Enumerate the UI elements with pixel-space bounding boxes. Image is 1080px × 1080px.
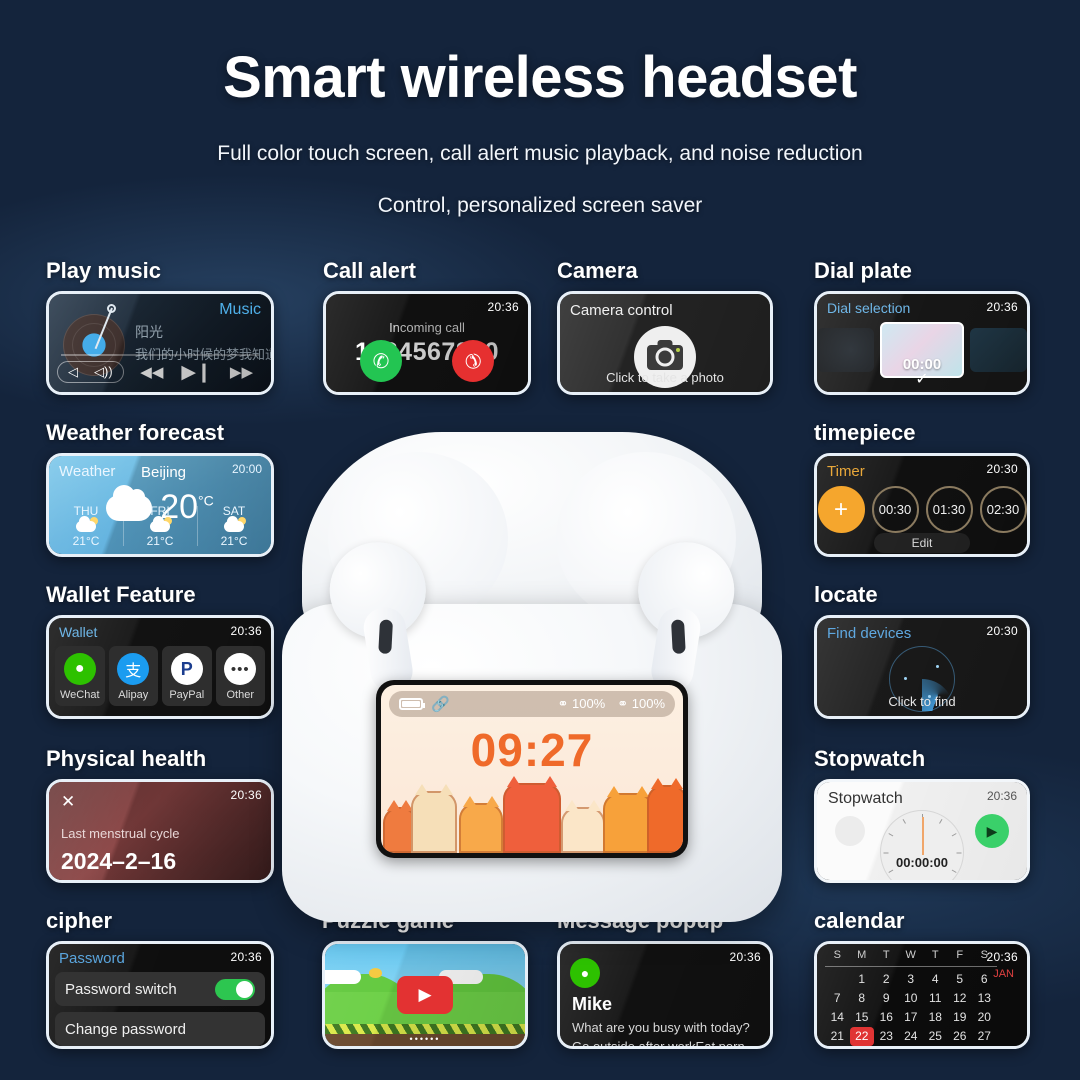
timer-presets: + 00:30 01:30 02:30 (817, 486, 1027, 533)
start-stopwatch-button[interactable]: ▶ (975, 814, 1009, 848)
find-hint: Click to find (817, 694, 1027, 709)
volume-control[interactable]: ◁ ◁)) (57, 361, 124, 383)
calendar-day[interactable]: 28 (825, 1046, 850, 1049)
feature-title: cipher (46, 908, 274, 934)
message-line-2: Go outside after workEat porn (572, 1039, 745, 1049)
calendar-day[interactable]: 31 (899, 1046, 924, 1049)
cipher-screen[interactable]: Password 20:36 Password switch Change pa… (46, 941, 274, 1049)
subtitle-line-1: Full color touch screen, call alert musi… (0, 142, 1080, 166)
calendar-day[interactable]: 23 (874, 1027, 899, 1046)
feature-title: Play music (46, 258, 274, 284)
cycle-label: Last menstrual cycle (61, 826, 180, 841)
wechat-icon: ● (64, 653, 96, 685)
calendar-day[interactable]: 1 (850, 970, 875, 989)
calendar-day[interactable]: 9 (874, 989, 899, 1008)
cloud-sun-icon (224, 521, 244, 532)
calendar-day[interactable]: 11 (923, 989, 948, 1008)
earbud-mesh (671, 619, 686, 654)
subtitle-line-2: Control, personalized screen saver (0, 194, 1080, 218)
feature-call-alert: Call alert 20:36 Incoming call 123456789… (323, 258, 531, 395)
dial-tick (884, 853, 889, 854)
dial-tick (957, 853, 962, 854)
feature-title: Physical health (46, 746, 274, 772)
wallet-screen[interactable]: Wallet 20:36 ● WeChat 支 Alipay P PayPal … (46, 615, 274, 719)
add-timer-button[interactable]: + (818, 486, 865, 533)
calendar-day[interactable]: 4 (923, 970, 948, 989)
status-clock: 20:36 (729, 950, 761, 964)
calendar-day[interactable]: 19 (948, 1008, 973, 1027)
case-display-inner: 🔗 ⚭ 100% ⚭ 100% 09:27 (381, 685, 683, 853)
earbud-battery-group: ⚭ 100% ⚭ 100% (557, 696, 665, 712)
tonearm-pivot-icon (107, 304, 116, 313)
calendar-day[interactable]: 25 (923, 1027, 948, 1046)
wallet-app-other[interactable]: ••• Other (216, 646, 266, 706)
case-display[interactable]: 🔗 ⚭ 100% ⚭ 100% 09:27 (376, 680, 688, 858)
status-clock: 20:30 (986, 462, 1018, 476)
battery-icon (399, 698, 423, 710)
forecast-day: THU 21°C (49, 504, 123, 548)
timer-app-label: Timer (827, 463, 865, 480)
calendar-day[interactable]: 27 (972, 1027, 997, 1046)
calendar-weekday: S (972, 949, 997, 961)
wallet-app-paypal[interactable]: P PayPal (162, 646, 212, 706)
incoming-call-label: Incoming call (326, 320, 528, 335)
feature-dial-plate: Dial plate Dial selection 20:36 00:00 ✓ (814, 258, 1030, 395)
calendar-day[interactable]: 22 (850, 1027, 875, 1046)
wallet-app-alipay[interactable]: 支 Alipay (109, 646, 159, 706)
calendar-divider (825, 966, 997, 967)
radar-dot (904, 677, 907, 680)
feature-title: Wallet Feature (46, 582, 274, 608)
paypal-icon: P (171, 653, 203, 685)
right-earbud-battery: ⚭ 100% (617, 696, 665, 712)
calendar-day[interactable]: 24 (899, 1027, 924, 1046)
wallet-app-label: WeChat (55, 689, 105, 701)
volume-up-icon[interactable]: ◁)) (94, 364, 113, 380)
password-app-label: Password (59, 950, 125, 967)
forecast-day: SAT 21°C (197, 504, 271, 548)
feature-wallet: Wallet Feature Wallet 20:36 ● WeChat 支 A… (46, 582, 274, 719)
dial-tick (952, 870, 957, 873)
calendar-day[interactable]: 2 (874, 970, 899, 989)
calendar-day[interactable]: 15 (850, 1008, 875, 1027)
wallet-app-label: Alipay (109, 689, 159, 701)
message-screen[interactable]: 20:36 ● Mike What are you busy with toda… (557, 941, 773, 1049)
wallet-app-label: Wallet (59, 624, 97, 640)
camera-screen[interactable]: Camera control Click to take a photo (557, 291, 773, 395)
status-clock: 20:36 (986, 300, 1018, 314)
change-password-label: Change password (65, 1021, 186, 1038)
forecast-day: FRI 21°C (123, 504, 197, 548)
feature-title: Stopwatch (814, 746, 1030, 772)
music-app-label: Music (219, 301, 261, 319)
check-icon[interactable]: ✓ (817, 369, 1027, 389)
dial-tick (903, 819, 906, 824)
status-clock: 20:36 (987, 789, 1017, 803)
dial-tick (903, 882, 906, 883)
earbud-mesh (378, 619, 393, 654)
dial-screen[interactable]: Dial selection 20:36 00:00 ✓ (814, 291, 1030, 395)
page-dots: •••••• (325, 1034, 525, 1044)
feature-calendar: calendar 20:36 JAN SMTWTFS 1234567891011… (814, 908, 1030, 1049)
song-title: 阳光 (135, 322, 163, 342)
weather-forecast-row: THU 21°C FRI 21°C SAT 21°C (49, 504, 271, 548)
wallet-app-label: PayPal (162, 689, 212, 701)
find-devices-label: Find devices (827, 625, 911, 642)
feature-title: Dial plate (814, 258, 1030, 284)
feature-title: calendar (814, 908, 1030, 934)
feature-stopwatch: Stopwatch Stopwatch 20:36 00:00:00 (814, 746, 1030, 883)
camera-hint: Click to take a photo (560, 370, 770, 385)
calendar-day[interactable]: 6 (972, 970, 997, 989)
cat-illustration (411, 791, 457, 853)
calendar-day[interactable]: 18 (923, 1008, 948, 1027)
music-screen[interactable]: Music 阳光 我们的小时候的梦我知道 ◁ ◁)) ◀◀ ▶❙ ▶▶ (46, 291, 274, 395)
change-password-row[interactable]: Change password (55, 1012, 265, 1046)
feature-locate: locate Find devices 20:30 Click to find (814, 582, 1030, 719)
stopwatch-app-label: Stopwatch (828, 790, 903, 808)
calendar-weekday: T (923, 949, 948, 961)
timer-preset[interactable]: 02:30 (980, 486, 1027, 533)
dial-selection-label: Dial selection (827, 300, 910, 316)
calendar-day[interactable]: 13 (972, 989, 997, 1008)
locate-screen[interactable]: Find devices 20:30 Click to find (814, 615, 1030, 719)
progress-bar[interactable] (61, 354, 259, 356)
feature-cipher: cipher Password 20:36 Password switch Ch… (46, 908, 274, 1049)
caller-number: 1234567890 (326, 338, 528, 367)
cat-illustration (561, 807, 605, 853)
calendar-day[interactable]: 14 (825, 1008, 850, 1027)
weather-app-label: Weather (59, 463, 115, 480)
feature-message-popup: Message popup 20:36 ● Mike What are you … (557, 908, 773, 1049)
cat-illustration (459, 803, 503, 853)
calendar-weekday: S (825, 949, 850, 961)
cycle-days-ago: 8 days ago (61, 878, 120, 883)
forecast-day-temp: 21°C (123, 534, 197, 548)
status-clock: 20:36 (487, 300, 519, 314)
dial-thumbnail-previous[interactable] (817, 328, 874, 372)
feature-title: locate (814, 582, 1030, 608)
feature-timepiece: timepiece Timer 20:30 + 00:30 01:30 02:3… (814, 420, 1030, 557)
edit-button[interactable]: Edit (817, 536, 1027, 550)
lap-button[interactable] (835, 816, 865, 846)
alipay-icon: 支 (117, 653, 149, 685)
dial-tick (888, 870, 893, 873)
cat-illustration (503, 783, 561, 853)
more-icon: ••• (224, 653, 256, 685)
dial-tick (939, 819, 942, 824)
earbuds-case: 🔗 ⚭ 100% ⚭ 100% 09:27 (282, 432, 782, 922)
camera-icon (647, 345, 683, 370)
call-screen[interactable]: 20:36 Incoming call 1234567890 ✆ ✆ (323, 291, 531, 395)
radar-dot (936, 665, 939, 668)
case-clock: 09:27 (381, 723, 683, 777)
calendar-weekday: F (948, 949, 973, 961)
feature-weather: Weather forecast Weather Beijing 20:00 2… (46, 420, 274, 557)
bird-icon (369, 968, 382, 978)
link-icon: 🔗 (431, 695, 450, 713)
calendar-weekday: M (850, 949, 875, 961)
status-clock: 20:36 (230, 624, 262, 638)
calendar-day[interactable]: 30 (874, 1046, 899, 1049)
calendar-day[interactable]: 8 (850, 989, 875, 1008)
wallet-app-wechat[interactable]: ● WeChat (55, 646, 105, 706)
page-title: Smart wireless headset (0, 44, 1080, 111)
timer-screen[interactable]: Timer 20:30 + 00:30 01:30 02:30 Edit (814, 453, 1030, 557)
music-controls: ◁ ◁)) ◀◀ ▶❙ ▶▶ (49, 358, 271, 386)
volume-down-icon[interactable]: ◁ (68, 364, 78, 380)
password-switch-row[interactable]: Password switch (55, 972, 265, 1006)
calendar-day[interactable]: 10 (899, 989, 924, 1008)
wallet-app-row: ● WeChat 支 Alipay P PayPal ••• Other (55, 646, 265, 706)
feature-camera: Camera Camera control Click to take a ph… (557, 258, 773, 395)
previous-track-icon[interactable]: ◀◀ (140, 363, 163, 381)
calendar-grid[interactable]: 1234567891011121314151617181920212223242… (825, 970, 997, 1049)
status-clock: 20:36 (230, 788, 262, 802)
dial-thumbnail-next[interactable] (970, 328, 1027, 372)
calendar-weekday: T (874, 949, 899, 961)
next-track-icon[interactable]: ▶▶ (230, 363, 253, 381)
play-pause-icon[interactable]: ▶❙ (181, 361, 212, 384)
cat-wallpaper (381, 779, 683, 853)
feature-title: Call alert (323, 258, 531, 284)
status-clock: 20:30 (986, 624, 1018, 638)
stopwatch-screen[interactable]: Stopwatch 20:36 00:00:00 ▶ (814, 779, 1030, 883)
weather-city: Beijing (141, 464, 186, 481)
calendar-screen[interactable]: 20:36 JAN SMTWTFS 1234567891011121314151… (814, 941, 1030, 1049)
stopwatch-hand (922, 817, 924, 855)
feature-puzzle-game: Puzzle game ▶ •••••• (322, 908, 528, 1049)
cycle-date: 2024–2–16 (61, 848, 176, 875)
calendar-day[interactable]: 16 (874, 1008, 899, 1027)
feature-title: Camera (557, 258, 773, 284)
calendar-day[interactable]: 21 (825, 1027, 850, 1046)
timer-preset[interactable]: 00:30 (872, 486, 919, 533)
password-toggle[interactable] (215, 979, 255, 1000)
stopwatch-time: 00:00:00 (896, 855, 948, 870)
message-line-1: What are you busy with today? (572, 1020, 750, 1035)
case-status-bar: 🔗 ⚭ 100% ⚭ 100% (389, 691, 675, 717)
calendar-day[interactable]: 7 (825, 989, 850, 1008)
weather-screen[interactable]: Weather Beijing 20:00 20°C THU 21°C FRI … (46, 453, 274, 557)
feature-play-music: Play music Music 阳光 我们的小时候的梦我知道 ◁ ◁)) ◀◀… (46, 258, 274, 395)
dial-tick (952, 833, 957, 836)
cat-illustration (647, 785, 683, 853)
dial-tick (888, 833, 893, 836)
calendar-weekday: W (899, 949, 924, 961)
feature-physical-health: Physical health ✕ 20:36 Last menstrual c… (46, 746, 274, 883)
status-clock: 20:00 (232, 462, 262, 476)
left-earbud-battery: ⚭ 100% (557, 696, 605, 712)
calendar-day[interactable]: 5 (948, 970, 973, 989)
play-game-button[interactable]: ▶ (397, 976, 453, 1014)
cloud-sun-icon (150, 521, 170, 532)
cat-illustration (603, 793, 653, 853)
product-poster: Smart wireless headset Full color touch … (0, 0, 1080, 1080)
cloud-sun-icon (76, 521, 96, 532)
calendar-day[interactable]: 17 (899, 1008, 924, 1027)
calendar-day[interactable]: 3 (899, 970, 924, 989)
calendar-day[interactable]: 29 (850, 1046, 875, 1049)
dial-tick (939, 882, 942, 883)
puzzle-screen[interactable]: ▶ •••••• (322, 941, 528, 1049)
message-sender: Mike (572, 994, 612, 1015)
wallet-app-label: Other (216, 689, 266, 701)
calendar-day[interactable]: 26 (948, 1027, 973, 1046)
wechat-icon: ● (570, 958, 600, 988)
forecast-day-temp: 21°C (49, 534, 123, 548)
calendar-blank (825, 970, 850, 989)
calendar-day[interactable]: 12 (948, 989, 973, 1008)
camera-control-label: Camera control (570, 302, 673, 319)
calendar-day[interactable]: 20 (972, 1008, 997, 1027)
feature-title: Weather forecast (46, 420, 274, 446)
password-switch-label: Password switch (65, 981, 177, 998)
accept-call-button[interactable]: ✆ (360, 340, 402, 382)
close-icon[interactable]: ✕ (61, 792, 75, 812)
forecast-day-temp: 21°C (197, 534, 271, 548)
camera-hump (658, 340, 673, 346)
health-screen[interactable]: ✕ 20:36 Last menstrual cycle 2024–2–16 8… (46, 779, 274, 883)
calendar-weekday-header: SMTWTFS (825, 949, 997, 961)
status-clock: 20:36 (230, 950, 262, 964)
timer-preset[interactable]: 01:30 (926, 486, 973, 533)
feature-title: timepiece (814, 420, 1030, 446)
